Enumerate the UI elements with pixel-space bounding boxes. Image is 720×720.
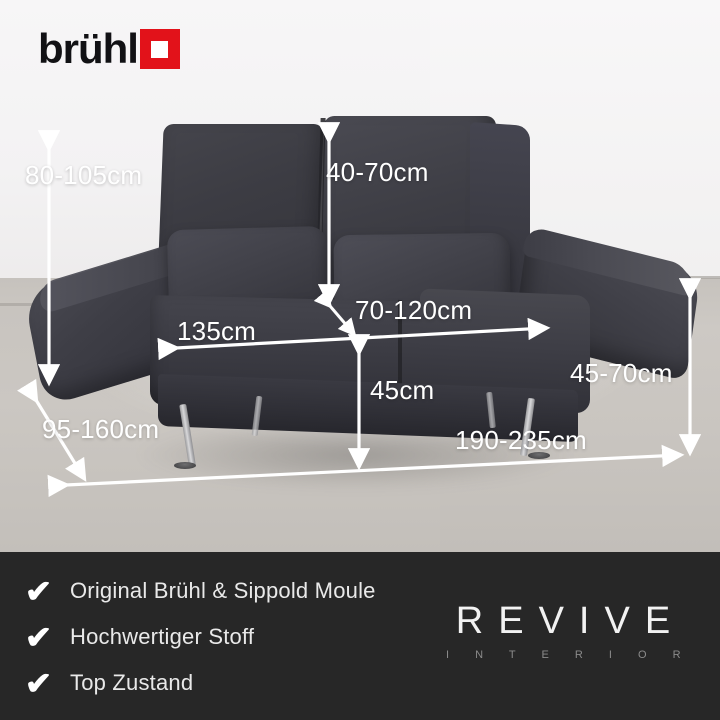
label-width-total: 190-235cm xyxy=(455,425,587,456)
label-armrest-height: 45-70cm xyxy=(570,358,673,389)
check-mark-icon: ✔ xyxy=(25,622,71,653)
feature-banner: ✔ Original Brühl & Sippold Moule ✔ Hochw… xyxy=(0,552,720,720)
label-backrest-height: 40-70cm xyxy=(326,157,429,188)
product-photo: 80-105cm 40-70cm 135cm 70-120cm 45cm 45-… xyxy=(0,0,720,552)
brand-logo: brühl xyxy=(38,28,180,70)
feature-list: ✔ Original Brühl & Sippold Moule ✔ Hochw… xyxy=(26,568,376,706)
dimension-overlay: 80-105cm 40-70cm 135cm 70-120cm 45cm 45-… xyxy=(0,0,720,552)
list-item: ✔ Top Zustand xyxy=(26,660,376,706)
red-square-inner xyxy=(151,41,168,58)
seller-logo-main: REVIVE xyxy=(428,600,700,642)
seller-logo: REVIVE I N T E R I O R xyxy=(428,600,700,661)
brand-logo-text: brühl xyxy=(38,28,138,70)
label-seat-height: 45cm xyxy=(370,375,434,406)
label-seat-width: 135cm xyxy=(177,316,256,347)
seller-logo-sub: I N T E R I O R xyxy=(428,649,700,661)
feature-label: Original Brühl & Sippold Moule xyxy=(70,578,376,604)
check-mark-icon: ✔ xyxy=(25,576,71,607)
feature-label: Top Zustand xyxy=(70,670,193,696)
list-item: ✔ Original Brühl & Sippold Moule xyxy=(26,568,376,614)
dimension-arrows xyxy=(0,0,720,552)
product-image-card: 80-105cm 40-70cm 135cm 70-120cm 45cm 45-… xyxy=(0,0,720,720)
label-back-depth: 70-120cm xyxy=(355,295,472,326)
list-item: ✔ Hochwertiger Stoff xyxy=(26,614,376,660)
check-mark-icon: ✔ xyxy=(25,668,71,699)
red-square-icon xyxy=(140,29,180,69)
arrow-back-depth xyxy=(330,306,354,334)
label-height-total: 80-105cm xyxy=(25,160,142,191)
label-depth-total: 95-160cm xyxy=(42,414,159,445)
arrow-width-total xyxy=(66,455,680,485)
feature-label: Hochwertiger Stoff xyxy=(70,624,254,650)
